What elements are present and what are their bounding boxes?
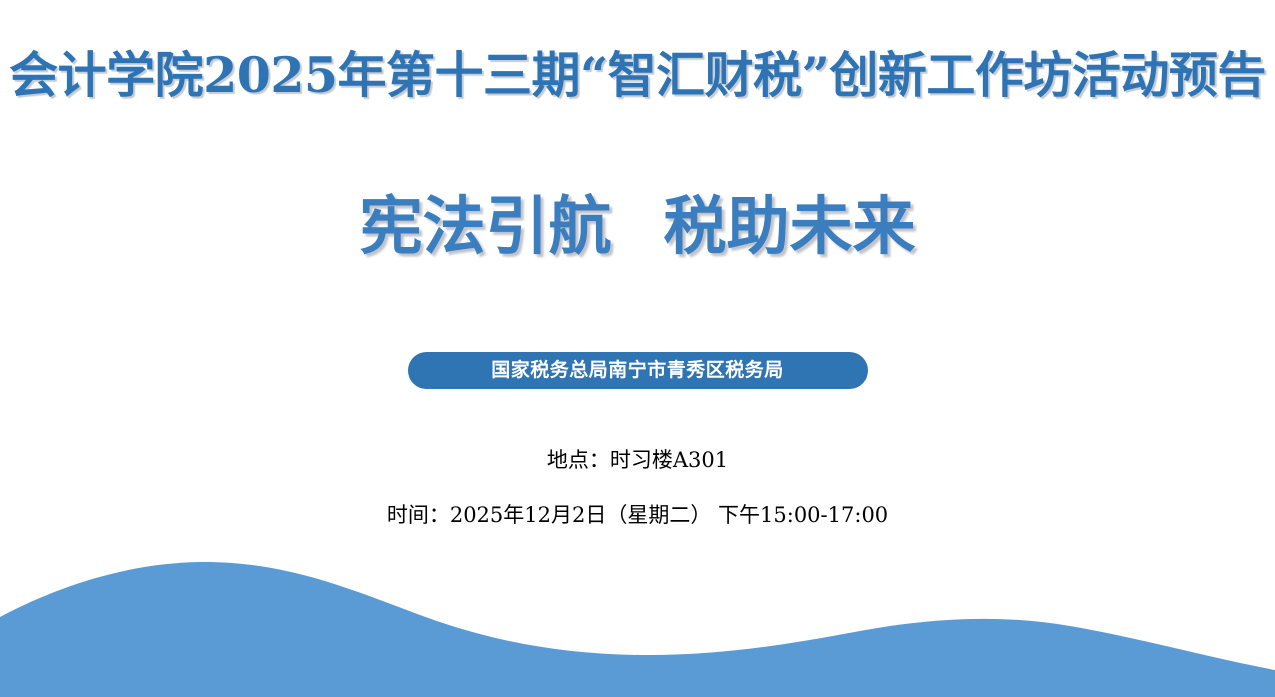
wave-decoration	[0, 537, 1275, 697]
organizer-badge: 国家税务总局南宁市青秀区税务局	[408, 352, 868, 389]
page-title: 会计学院2025年第十三期“智汇财税”创新工作坊活动预告	[0, 44, 1275, 106]
event-location: 地点：时习楼A301	[0, 445, 1275, 475]
poster-heading: 宪法引航税助未来	[0, 186, 1275, 266]
wave-shape-icon	[0, 537, 1275, 697]
event-time: 时间：2025年12月2日（星期二） 下午15:00-17:00	[0, 500, 1275, 530]
event-poster: 会计学院2025年第十三期“智汇财税”创新工作坊活动预告 宪法引航税助未来 国家…	[0, 0, 1275, 697]
heading-phrase-right: 税助未来	[664, 189, 916, 263]
heading-phrase-left: 宪法引航	[360, 189, 612, 263]
organizer-badge-row: 国家税务总局南宁市青秀区税务局	[0, 352, 1275, 389]
